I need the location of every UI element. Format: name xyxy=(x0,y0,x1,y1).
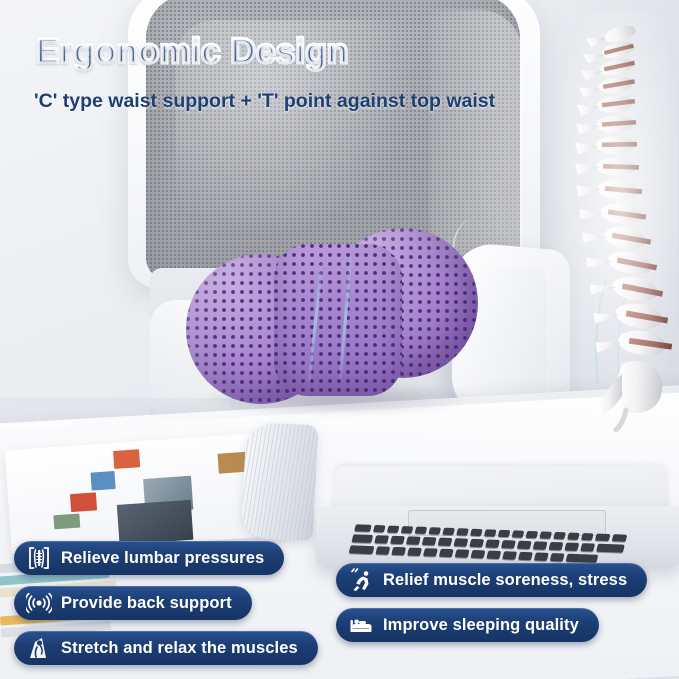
pillow-waist-section xyxy=(274,244,402,396)
feature-badge-label: Relief muscle soreness, stress xyxy=(383,571,627,590)
page-subtitle: 'C' type waist support + 'T' point again… xyxy=(34,90,495,113)
magazine-swatch xyxy=(90,471,115,491)
spine-glow xyxy=(548,12,678,432)
product-marketing-image: Ergonomic Design 'C' type waist support … xyxy=(0,0,679,679)
feature-badge[interactable]: Stretch and relax the muscles xyxy=(14,631,318,665)
magazine-photo xyxy=(117,500,194,545)
feature-badge-list-left: Relieve lumbar pressures Provide back su… xyxy=(14,541,318,676)
magazine-swatch xyxy=(53,514,80,530)
chair-armrest-right-inner xyxy=(470,268,546,398)
magazine-swatch xyxy=(113,449,140,469)
spine-back-icon xyxy=(26,545,52,571)
page-title: Ergonomic Design xyxy=(36,32,348,72)
feature-badge[interactable]: Improve sleeping quality xyxy=(336,608,599,642)
back-pain-person-icon xyxy=(348,567,374,593)
magazine-roll xyxy=(241,422,319,542)
bed-icon xyxy=(348,612,374,638)
feature-badge-label: Relieve lumbar pressures xyxy=(61,549,264,568)
feature-badge-label: Provide back support xyxy=(61,594,232,613)
stretching-person-icon xyxy=(26,635,52,661)
spine-illustration xyxy=(548,12,678,432)
feature-badge-label: Stretch and relax the muscles xyxy=(61,639,298,658)
feature-badge[interactable]: Provide back support xyxy=(14,586,252,620)
signal-waves-icon xyxy=(26,590,52,616)
feature-badge-label: Improve sleeping quality xyxy=(383,616,579,635)
laptop xyxy=(316,466,679,578)
feature-badge-list-right: Relief muscle soreness, stress Improve s… xyxy=(336,563,647,653)
lumbar-support-pillow xyxy=(186,228,478,406)
magazine-swatch xyxy=(70,492,97,512)
feature-badge[interactable]: Relieve lumbar pressures xyxy=(14,541,284,575)
feature-badge[interactable]: Relief muscle soreness, stress xyxy=(336,563,647,597)
